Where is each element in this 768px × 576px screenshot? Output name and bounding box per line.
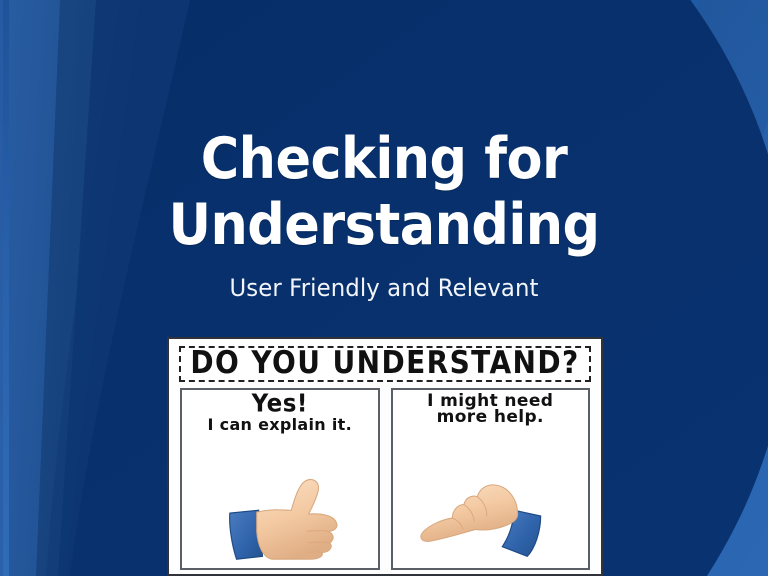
title-block: Checking for Understanding	[0, 126, 768, 258]
panel-headline: Yes!	[252, 392, 308, 418]
presentation-slide: Checking for Understanding User Friendly…	[0, 0, 768, 576]
thumbs-up-hand-icon	[182, 468, 378, 564]
panel-text-block: I might need more help.	[393, 390, 589, 427]
poster-header: DO YOU UNDERSTAND?	[179, 346, 591, 382]
panel-subline: I can explain it.	[182, 417, 378, 433]
panel-text-block: Yes! I can explain it.	[182, 390, 378, 434]
shaka-hand-icon	[393, 468, 589, 564]
panel-subline: more help.	[393, 409, 589, 426]
poster-panels: Yes! I can explain it.	[177, 388, 593, 574]
page-title: Checking for Understanding	[31, 126, 738, 258]
slide-subtitle: User Friendly and Relevant	[19, 274, 749, 302]
poster-panel-yes: Yes! I can explain it.	[180, 388, 380, 570]
poster-header-text: DO YOU UNDERSTAND?	[190, 347, 579, 378]
poster-inner: DO YOU UNDERSTAND? Yes! I can explain it…	[177, 346, 593, 574]
poster-panel-more-help: I might need more help.	[391, 388, 591, 570]
understanding-poster-image: DO YOU UNDERSTAND? Yes! I can explain it…	[167, 337, 603, 576]
